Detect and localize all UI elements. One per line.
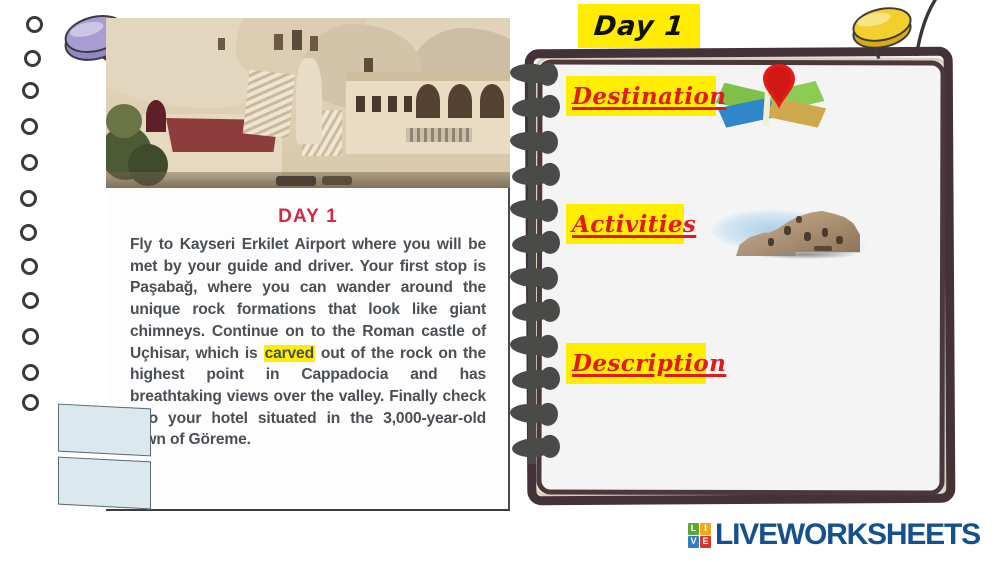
logo-wordmark: LIVEWORKSHEETS bbox=[715, 518, 980, 552]
label-activities-text: Activities bbox=[566, 204, 700, 238]
label-destination-text: Destination bbox=[566, 76, 730, 110]
answer-box-1[interactable] bbox=[58, 404, 151, 457]
punch-hole bbox=[22, 292, 39, 309]
spiral-ring bbox=[510, 267, 555, 288]
spiral-ring bbox=[511, 164, 556, 186]
lesson-paragraph: Fly to Kayseri Erkilet Airport where you… bbox=[130, 234, 486, 451]
answer-box-2[interactable] bbox=[58, 457, 151, 510]
punch-hole bbox=[21, 118, 38, 135]
highlighted-word: carved bbox=[264, 345, 315, 362]
punch-hole bbox=[26, 16, 43, 33]
punch-hole bbox=[22, 364, 39, 381]
yellow-pushpin bbox=[846, 2, 918, 68]
logo-tile-e: E bbox=[700, 536, 711, 548]
printed-book-page: DAY 1 Fly to Kayseri Erkilet Airport whe… bbox=[106, 18, 510, 511]
logo-tile-v: V bbox=[688, 536, 699, 548]
hole-punch-column bbox=[18, 8, 48, 408]
spiral-ring bbox=[511, 232, 556, 254]
spiral-binding bbox=[510, 64, 566, 464]
day-tab: Day 1 bbox=[578, 4, 700, 48]
page-heading: DAY 1 bbox=[106, 206, 510, 228]
punch-hole bbox=[20, 224, 37, 241]
punch-hole bbox=[22, 82, 39, 99]
spiral-ring bbox=[510, 63, 555, 84]
logo-tile-i: I bbox=[700, 523, 711, 535]
spiral-ring bbox=[511, 436, 556, 458]
logo-tile-l: L bbox=[688, 523, 699, 535]
rock-castle-image bbox=[712, 188, 868, 266]
spiral-ring bbox=[511, 300, 556, 322]
punch-hole bbox=[24, 50, 41, 67]
label-destination: Destination bbox=[566, 76, 730, 110]
label-description-text: Description bbox=[566, 343, 730, 377]
spiral-ring bbox=[510, 403, 555, 424]
punch-hole bbox=[21, 154, 38, 171]
spiral-ring bbox=[510, 199, 555, 220]
logo-tiles: LIVE bbox=[688, 523, 711, 548]
paragraph-part-1: Fly to Kayseri Erkilet Airport where you… bbox=[130, 236, 486, 362]
punch-hole bbox=[20, 190, 37, 207]
punch-hole bbox=[22, 394, 39, 411]
spiral-ring bbox=[510, 131, 555, 152]
day-tab-label: Day 1 bbox=[592, 11, 686, 42]
label-description: Description bbox=[566, 343, 730, 377]
punch-hole bbox=[21, 258, 38, 275]
liveworksheets-logo: LIVE LIVEWORKSHEETS bbox=[688, 518, 980, 552]
spiral-ring bbox=[510, 335, 555, 356]
map-pin-icon bbox=[716, 66, 824, 128]
spiral-ring bbox=[511, 96, 556, 118]
worksheet-canvas: DAY 1 Fly to Kayseri Erkilet Airport whe… bbox=[0, 0, 999, 562]
spiral-ring bbox=[511, 368, 556, 390]
punch-hole bbox=[22, 328, 39, 345]
cappadocia-photo bbox=[106, 18, 510, 188]
label-activities: Activities bbox=[566, 204, 700, 238]
